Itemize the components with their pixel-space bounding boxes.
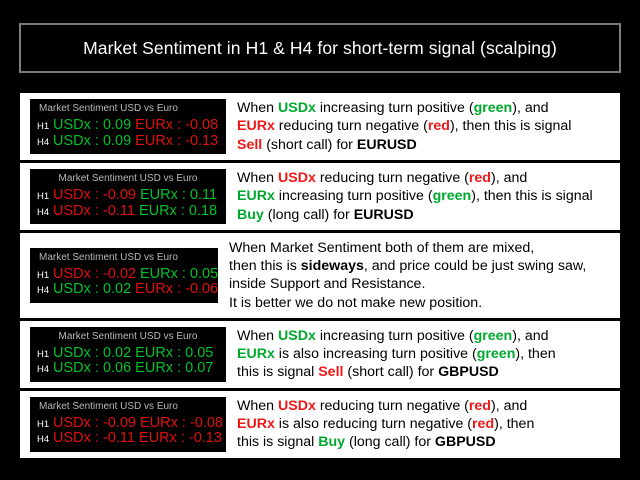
page-title-box: Market Sentiment in H1 & H4 for short-te… [19, 23, 621, 73]
usdx-value: USDx : 0.09 [53, 118, 131, 133]
rule-text-segment: reducing turn negative ( [316, 398, 469, 414]
market-sentiment-panel: Market Sentiment USD vs EuroH1USDx : -0.… [30, 248, 218, 303]
usdx-value: USDx : -0.02 [53, 267, 136, 282]
eurx-value: EURx : 0.11 [140, 188, 217, 203]
rule-text-segment: EURUSD [354, 207, 414, 223]
timeframe-label: H1 [37, 192, 53, 202]
panel-header-label: Market Sentiment USD vs Euro [37, 332, 219, 345]
rule-text-segment: this is signal [237, 364, 318, 380]
usdx-value: USDx : -0.09 [53, 416, 136, 431]
rule-description-line: Buy (long call) for EURUSD [237, 206, 614, 224]
rule-text-segment: then this is [229, 258, 301, 274]
signal-rule-row: Market Sentiment USD vs EuroH1USDx : -0.… [20, 233, 620, 318]
rule-text-segment: USDx [278, 100, 316, 116]
signal-rule-row: Market Sentiment USD vs EuroH1USDx : 0.0… [20, 93, 620, 160]
rule-text-segment: green [474, 328, 513, 344]
rule-text-segment: When Market Sentiment both of them are m… [229, 240, 534, 256]
eurx-value: EURx : 0.05 [140, 267, 218, 282]
rule-text-segment: increasing turn positive ( [316, 328, 474, 344]
panel-header-label: Market Sentiment USD vs Euro [37, 174, 219, 187]
panel-header-label: Market Sentiment USD vs Euro [37, 253, 211, 266]
rule-text-segment: Buy [318, 434, 345, 450]
rule-text-segment: this is signal [237, 434, 318, 450]
rule-text-segment: , and price could be just swing saw, [364, 258, 586, 274]
rule-text-segment: is also reducing turn negative ( [275, 416, 472, 432]
rule-text-segment: GBPUSD [438, 364, 499, 380]
rule-text-segment: EURx [237, 346, 275, 362]
panel-timeframe-row: H1USDx : -0.09EURx : 0.11 [37, 187, 219, 203]
panel-header-label: Market Sentiment USD vs Euro [37, 402, 219, 415]
rule-description-line: When USDx reducing turn negative (red), … [237, 397, 614, 415]
rule-text-segment: When [237, 170, 278, 186]
timeframe-label: H4 [37, 208, 53, 218]
usdx-value: USDx : 0.09 [53, 134, 131, 149]
rule-text-segment: USDx [278, 398, 316, 414]
rule-text-segment: EURx [237, 118, 275, 134]
market-sentiment-panel: Market Sentiment USD vs EuroH1USDx : 0.0… [30, 327, 226, 382]
rule-text-segment: green [433, 188, 472, 204]
signal-rule-row: Market Sentiment USD vs EuroH1USDx : -0.… [20, 163, 620, 230]
usdx-value: USDx : 0.02 [53, 282, 131, 297]
usdx-value: USDx : -0.11 [53, 431, 135, 446]
timeframe-label: H1 [37, 271, 53, 281]
market-sentiment-panel-wrap: Market Sentiment USD vs EuroH1USDx : 0.0… [30, 99, 226, 154]
usdx-value: USDx : -0.09 [53, 188, 136, 203]
page-title: Market Sentiment in H1 & H4 for short-te… [83, 38, 557, 59]
eurx-value: EURx : -0.13 [135, 134, 218, 149]
rule-description: When USDx reducing turn negative (red), … [226, 169, 614, 224]
market-sentiment-panel-wrap: Market Sentiment USD vs EuroH1USDx : 0.0… [30, 327, 226, 382]
rule-text-segment: ), and [512, 328, 548, 344]
market-sentiment-panel: Market Sentiment USD vs EuroH1USDx : -0.… [30, 169, 226, 224]
rule-text-segment: ), then [515, 346, 555, 362]
rule-text-segment: (long call) for [345, 434, 435, 450]
rule-description-line: then this is sideways, and price could b… [229, 257, 614, 275]
timeframe-label: H1 [37, 420, 53, 430]
rule-text-segment: ), and [491, 398, 527, 414]
rule-text-segment: ), and [512, 100, 548, 116]
rule-text-segment: GBPUSD [435, 434, 496, 450]
market-sentiment-panel-wrap: Market Sentiment USD vs EuroH1USDx : -0.… [30, 169, 226, 224]
eurx-value: EURx : 0.05 [135, 346, 213, 361]
rule-text-segment: reducing turn negative ( [275, 118, 428, 134]
panel-timeframe-row: H4USDx : 0.06EURx : 0.07 [37, 360, 219, 376]
rule-text-segment: (long call) for [264, 207, 354, 223]
usdx-value: USDx : 0.06 [53, 361, 131, 376]
rule-text-segment: green [474, 100, 513, 116]
rule-text-segment: ), then this is signal [471, 188, 592, 204]
rule-description-line: Sell (short call) for EURUSD [237, 136, 614, 154]
rule-text-segment: (short call) for [343, 364, 438, 380]
rule-text-segment: ), and [491, 170, 527, 186]
rule-description-line: When USDx increasing turn positive (gree… [237, 327, 614, 345]
eurx-value: EURx : 0.07 [135, 361, 213, 376]
rule-text-segment: Sell [237, 137, 262, 153]
rule-text-segment: USDx [278, 328, 316, 344]
rule-text-segment: red [428, 118, 450, 134]
timeframe-label: H1 [37, 350, 53, 360]
timeframe-label: H4 [37, 138, 53, 148]
rule-text-segment: EURx [237, 416, 275, 432]
usdx-value: USDx : 0.02 [53, 346, 131, 361]
rule-text-segment: sideways [301, 258, 364, 274]
eurx-value: EURx : -0.08 [140, 416, 223, 431]
rule-text-segment: ), then this is signal [450, 118, 571, 134]
panel-timeframe-row: H1USDx : 0.02EURx : 0.05 [37, 345, 219, 361]
market-sentiment-panel-wrap: Market Sentiment USD vs EuroH1USDx : -0.… [30, 397, 226, 452]
rule-description: When USDx reducing turn negative (red), … [226, 397, 614, 452]
rule-text-segment: inside Support and Resistance. [229, 276, 425, 292]
eurx-value: EURx : -0.08 [135, 118, 218, 133]
panel-timeframe-row: H4USDx : -0.11EURx : -0.13 [37, 430, 219, 446]
rule-text-segment: is also increasing turn positive ( [275, 346, 477, 362]
rule-description: When USDx increasing turn positive (gree… [226, 99, 614, 154]
timeframe-label: H4 [37, 365, 53, 375]
rule-text-segment: red [469, 170, 491, 186]
rule-text-segment: EURx [237, 188, 275, 204]
eurx-value: EURx : -0.13 [139, 431, 222, 446]
rule-description-line: this is signal Sell (short call) for GBP… [237, 363, 614, 381]
rule-description-line: EURx is also reducing turn negative (red… [237, 415, 614, 433]
panel-timeframe-row: H1USDx : -0.09EURx : -0.08 [37, 415, 219, 431]
rule-text-segment: increasing turn positive ( [316, 100, 474, 116]
panel-timeframe-row: H4USDx : 0.02EURx : -0.06 [37, 281, 211, 297]
market-sentiment-panel: Market Sentiment USD vs EuroH1USDx : 0.0… [30, 99, 226, 154]
rule-text-segment: Buy [237, 207, 264, 223]
rule-description-line: this is signal Buy (long call) for GBPUS… [237, 433, 614, 451]
rule-text-segment: increasing turn positive ( [275, 188, 433, 204]
panel-timeframe-row: H4USDx : 0.09EURx : -0.13 [37, 133, 219, 149]
rule-text-segment: green [477, 346, 516, 362]
eurx-value: EURx : -0.06 [135, 282, 218, 297]
rule-description-line: When USDx reducing turn negative (red), … [237, 169, 614, 187]
rule-description: When Market Sentiment both of them are m… [218, 239, 614, 312]
rule-text-segment: When [237, 100, 278, 116]
panel-timeframe-row: H1USDx : 0.09EURx : -0.08 [37, 117, 219, 133]
rule-text-segment: EURUSD [357, 137, 417, 153]
rule-description-line: EURx reducing turn negative (red), then … [237, 117, 614, 135]
eurx-value: EURx : 0.18 [139, 204, 217, 219]
rule-text-segment: red [472, 416, 494, 432]
rule-description-line: When Market Sentiment both of them are m… [229, 239, 614, 257]
signal-rule-row: Market Sentiment USD vs EuroH1USDx : 0.0… [20, 321, 620, 388]
rule-text-segment: reducing turn negative ( [316, 170, 469, 186]
usdx-value: USDx : -0.11 [53, 204, 135, 219]
rule-description: When USDx increasing turn positive (gree… [226, 327, 614, 382]
timeframe-label: H4 [37, 435, 53, 445]
rule-description-line: EURx is also increasing turn positive (g… [237, 345, 614, 363]
rule-text-segment: red [469, 398, 491, 414]
panel-timeframe-row: H1USDx : -0.02EURx : 0.05 [37, 266, 211, 282]
signal-rule-row: Market Sentiment USD vs EuroH1USDx : -0.… [20, 391, 620, 458]
rule-description-line: When USDx increasing turn positive (gree… [237, 99, 614, 117]
timeframe-label: H1 [37, 122, 53, 132]
rule-text-segment: ), then [494, 416, 534, 432]
rule-text-segment: Sell [318, 364, 343, 380]
market-sentiment-panel-wrap: Market Sentiment USD vs EuroH1USDx : -0.… [30, 239, 218, 312]
rule-description-line: EURx increasing turn positive (green), t… [237, 187, 614, 205]
timeframe-label: H4 [37, 286, 53, 296]
signal-rule-list: Market Sentiment USD vs EuroH1USDx : 0.0… [20, 93, 620, 461]
rule-description-line: inside Support and Resistance. [229, 275, 614, 293]
market-sentiment-panel: Market Sentiment USD vs EuroH1USDx : -0.… [30, 397, 226, 452]
rule-text-segment: It is better we do not make new position… [229, 295, 482, 311]
rule-text-segment: USDx [278, 170, 316, 186]
rule-text-segment: When [237, 398, 278, 414]
rule-text-segment: When [237, 328, 278, 344]
panel-header-label: Market Sentiment USD vs Euro [37, 104, 219, 117]
rule-description-line: It is better we do not make new position… [229, 294, 614, 312]
rule-text-segment: (short call) for [262, 137, 357, 153]
panel-timeframe-row: H4USDx : -0.11EURx : 0.18 [37, 203, 219, 219]
